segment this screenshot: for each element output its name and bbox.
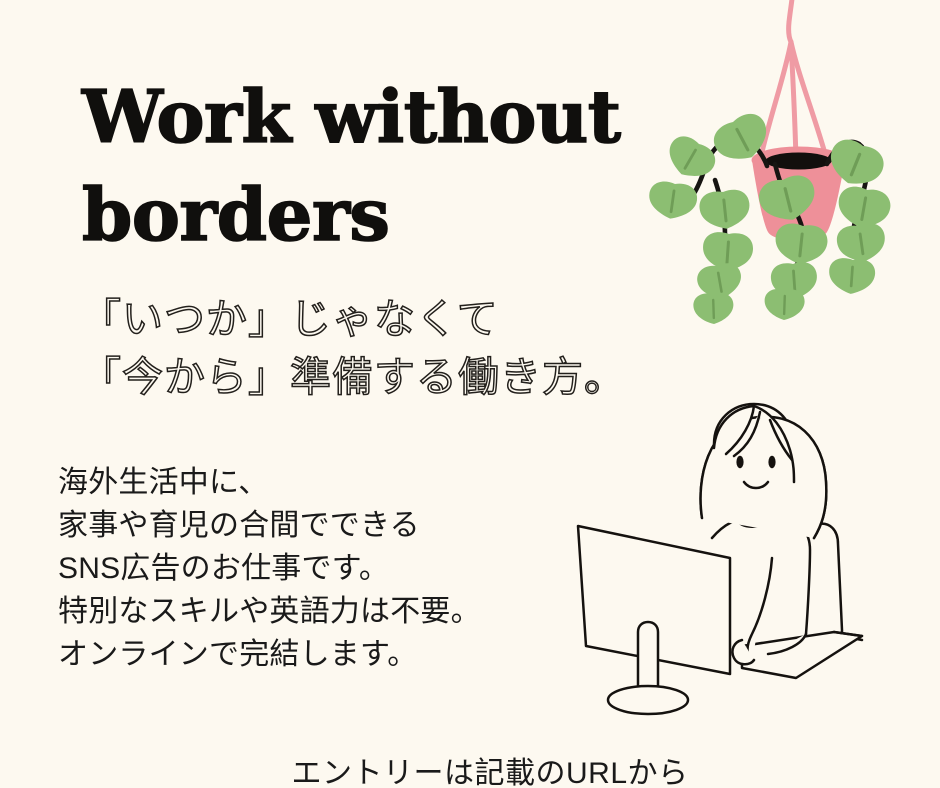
body-copy: 海外生活中に、 家事や育児の合間でできる SNS広告のお仕事です。 特別なスキル… (58, 462, 528, 676)
hanging-plant-illustration (655, 0, 940, 314)
chair-back (818, 524, 842, 640)
eye-right (768, 456, 775, 468)
macrame-cords (762, 0, 824, 160)
eye-left (736, 456, 743, 468)
page-title: Work without borders (82, 68, 642, 264)
footer-caption: エントリーは記載のURLから (0, 748, 940, 788)
monitor-base (608, 686, 688, 714)
poster-canvas: Work without borders 「いつか」じゃなくて 「今から」準備す… (0, 0, 940, 788)
woman-at-computer-illustration (556, 378, 940, 722)
